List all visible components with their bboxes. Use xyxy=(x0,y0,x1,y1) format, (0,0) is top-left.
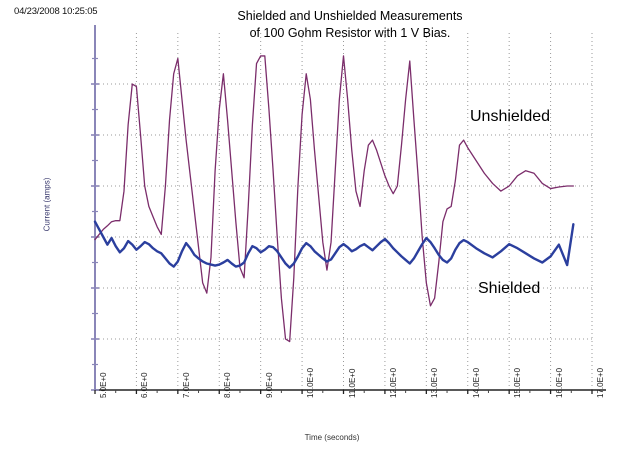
chart-screenshot: 04/23/2008 10:25:05 Shielded and Unshiel… xyxy=(0,0,642,455)
plot-canvas xyxy=(0,0,642,455)
annotation-shielded: Shielded xyxy=(478,280,540,298)
annotation-unshielded: Unshielded xyxy=(470,108,550,126)
